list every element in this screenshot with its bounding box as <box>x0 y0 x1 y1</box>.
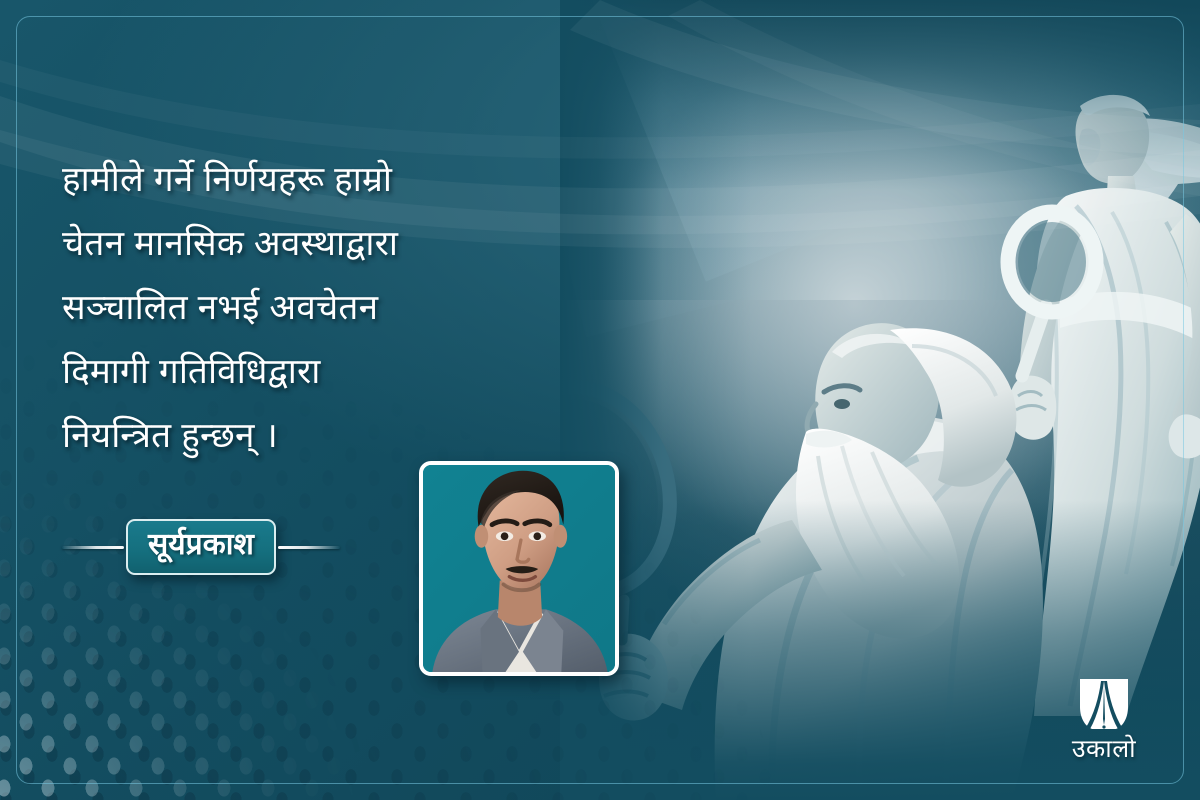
author-name-badge: सूर्यप्रकाश <box>126 519 276 575</box>
uphill-road-logo-icon <box>1074 675 1134 733</box>
divider-line-right <box>278 546 340 549</box>
author-portrait <box>419 461 619 676</box>
author-badge-row: सूर्यप्रकाश <box>62 516 392 578</box>
quote-card: हामीले गर्ने निर्णयहरू हाम्रो चेतन मानसि… <box>0 0 1200 800</box>
quote-text: हामीले गर्ने निर्णयहरू हाम्रो चेतन मानसि… <box>62 148 562 468</box>
brand-logo: उकालो <box>1050 675 1158 762</box>
divider-line-left <box>62 546 124 549</box>
brand-name: उकालो <box>1072 737 1136 762</box>
portrait-image <box>423 465 615 672</box>
